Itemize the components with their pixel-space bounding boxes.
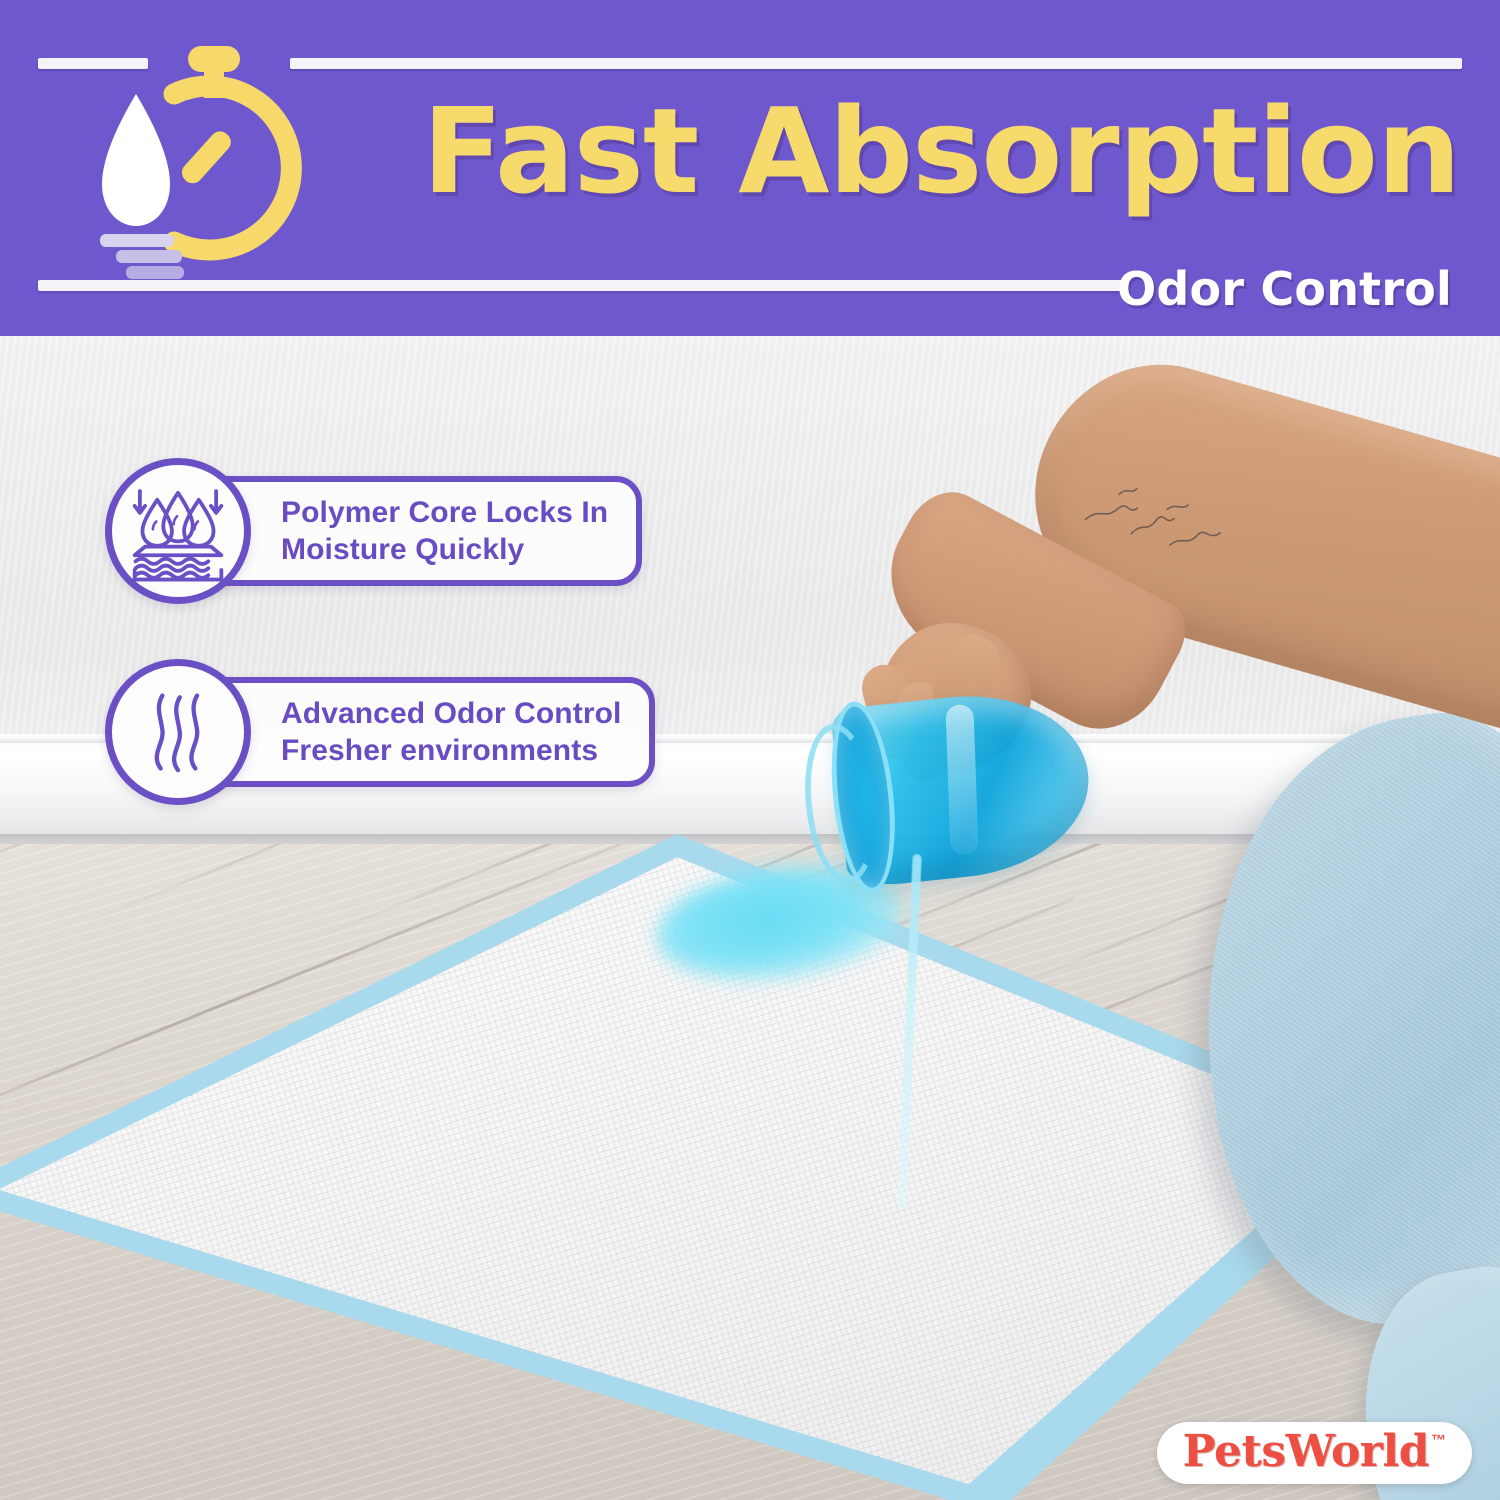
page-subtitle: Odor Control <box>1117 262 1452 316</box>
odor-waves-icon <box>126 680 230 784</box>
page-title: Fast Absorption <box>380 92 1460 210</box>
header-rule-right <box>290 58 1462 69</box>
feature-label: Polymer Core Locks In Moisture Quickly <box>281 494 608 568</box>
absorbing-droplets-icon <box>126 479 230 583</box>
feature-label: Advanced Odor Control Fresher environmen… <box>281 695 621 769</box>
feature-callout-polymer-core[interactable]: Polymer Core Locks In Moisture Quickly <box>105 458 642 604</box>
promo-image-stage: IV·VI·MMXXIII <box>0 0 1500 1500</box>
header-banner: Fast Absorption Odor Control <box>0 0 1500 336</box>
feature-icon-circle <box>105 458 251 604</box>
pitcher-highlight <box>945 704 978 855</box>
brand-logo: PetsWorld ™ <box>1157 1422 1472 1484</box>
feature-icon-circle <box>105 659 251 805</box>
trademark-symbol: ™ <box>1431 1432 1446 1449</box>
water-drop-stopwatch-icon <box>78 42 328 282</box>
glass-pitcher <box>789 673 1130 925</box>
feature-callout-odor-control[interactable]: Advanced Odor Control Fresher environmen… <box>105 659 655 805</box>
brand-name: PetsWorld <box>1183 1430 1429 1474</box>
